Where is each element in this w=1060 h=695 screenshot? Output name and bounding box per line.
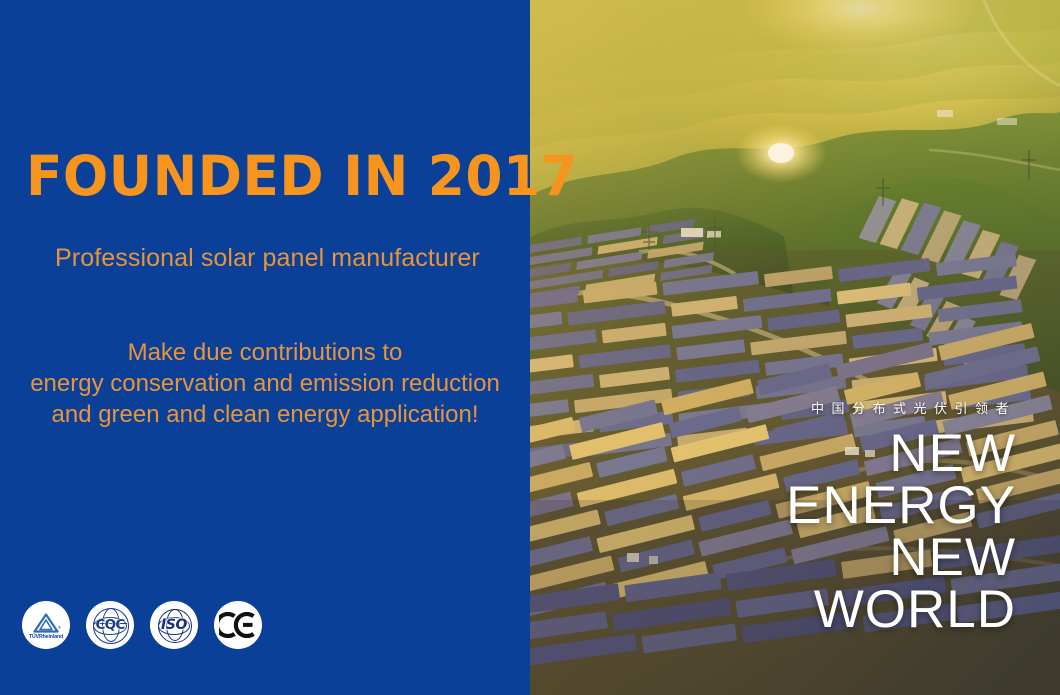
- slogan-line-4: WORLD: [786, 584, 1016, 636]
- solar-farm-photo: 中国分布式光伏引领者 NEW ENERGY NEW WORLD: [529, 0, 1060, 695]
- info-panel: FOUNDED IN 2017 Professional solar panel…: [0, 0, 530, 695]
- slogan-line-1: NEW: [786, 428, 1016, 480]
- page-title: FOUNDED IN 2017: [26, 147, 511, 205]
- mission-line-3: and green and clean energy application!: [0, 399, 530, 430]
- tuv-rheinland-badge: TÜVRheinland ®: [22, 601, 70, 649]
- mission-line-2: energy conservation and emission reducti…: [0, 368, 530, 399]
- slogan-block: NEW ENERGY NEW WORLD: [786, 428, 1016, 636]
- certification-badges: TÜVRheinland ® CQC ISO: [22, 601, 262, 649]
- tuv-label: TÜVRheinland: [29, 634, 63, 640]
- ce-badge: [214, 601, 262, 649]
- slogan-line-2: ENERGY: [786, 480, 1016, 532]
- chinese-tagline: 中国分布式光伏引领者: [811, 398, 1016, 417]
- iso-badge: ISO: [150, 601, 198, 649]
- tuv-rheinland-icon: [33, 613, 59, 633]
- cqc-label: CQC: [96, 617, 125, 633]
- mission-statement: Make due contributions to energy conserv…: [0, 337, 530, 430]
- registered-mark: ®: [58, 625, 61, 630]
- iso-label: ISO: [161, 617, 187, 633]
- cqc-badge: CQC: [86, 601, 134, 649]
- slogan-line-3: NEW: [786, 532, 1016, 584]
- promotional-banner: 中国分布式光伏引领者 NEW ENERGY NEW WORLD FOUNDED …: [0, 0, 1060, 695]
- subtitle: Professional solar panel manufacturer: [55, 243, 480, 273]
- ce-mark-icon: [219, 612, 257, 638]
- mission-line-1: Make due contributions to: [0, 337, 530, 368]
